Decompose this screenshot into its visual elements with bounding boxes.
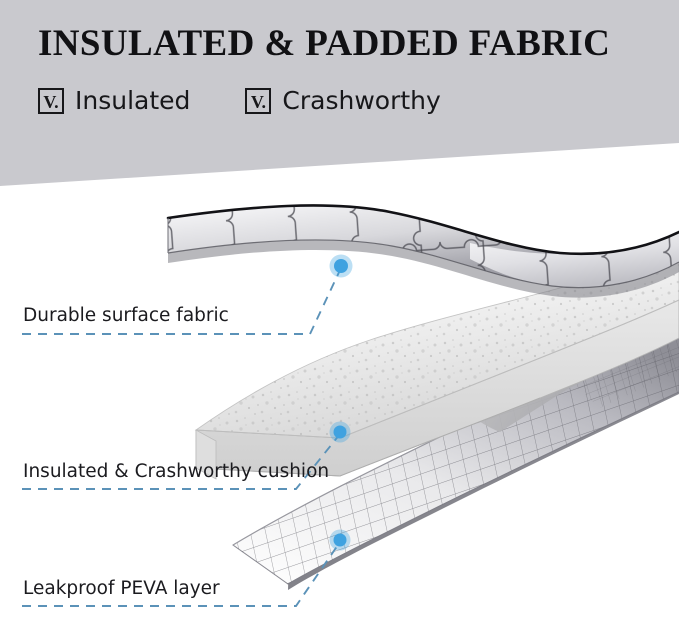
callout-label-surface-fabric: Durable surface fabric: [23, 305, 229, 326]
callout-label-peva: Leakproof PEVA layer: [23, 578, 220, 599]
callout-label-cushion: Insulated & Crashworthy cushion: [23, 461, 329, 482]
blue-dot-marker-cushion: [330, 422, 351, 443]
blue-dot-marker-surface-fabric: [330, 255, 353, 278]
blue-dot-marker-peva: [330, 530, 351, 551]
product-infographic: INSULATED & PADDED FABRIC V. Insulated V…: [0, 0, 679, 619]
layer-surface-fabric: [150, 190, 679, 310]
